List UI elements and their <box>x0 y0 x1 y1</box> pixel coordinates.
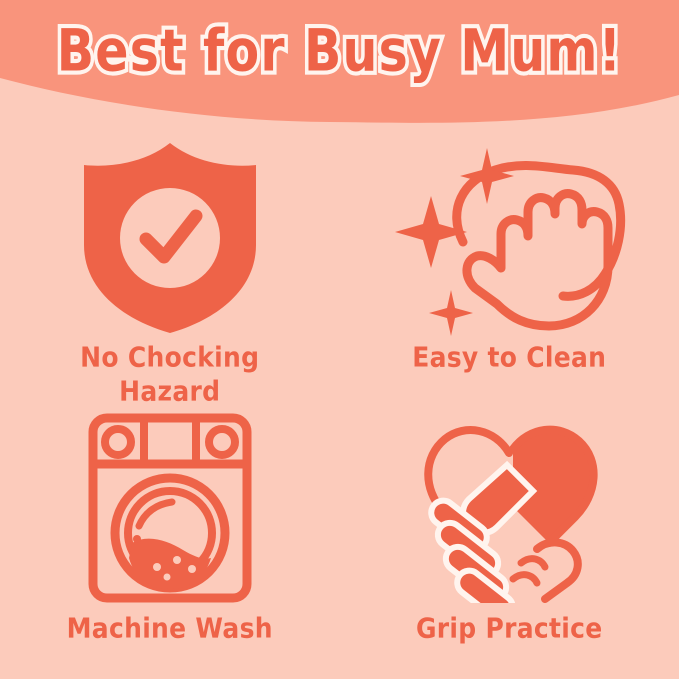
feature-card-no-chocking-hazard: No Chocking Hazard <box>0 138 340 409</box>
feature-card-grip-practice: Grip Practice <box>340 409 679 679</box>
shield-check-icon <box>0 138 340 338</box>
feature-label: Grip Practice <box>398 611 621 645</box>
washing-machine-icon <box>0 409 340 607</box>
page-title: Best for Busy Mum! <box>0 22 679 80</box>
feature-label: No Chocking Hazard <box>62 340 277 408</box>
feature-card-easy-to-clean: Easy to Clean <box>340 138 679 409</box>
hand-wiping-sparkle-icon <box>340 138 679 338</box>
poster-canvas: Best for Busy Mum! No Chocking Hazard <box>0 0 679 679</box>
feature-grid: No Chocking Hazard Easy to Clean <box>0 138 679 679</box>
feature-card-machine-wash: Machine Wash <box>0 409 340 679</box>
feature-label: Easy to Clean <box>394 340 624 374</box>
feature-label: Machine Wash <box>49 611 291 645</box>
handshake-heart-icon <box>340 409 679 607</box>
